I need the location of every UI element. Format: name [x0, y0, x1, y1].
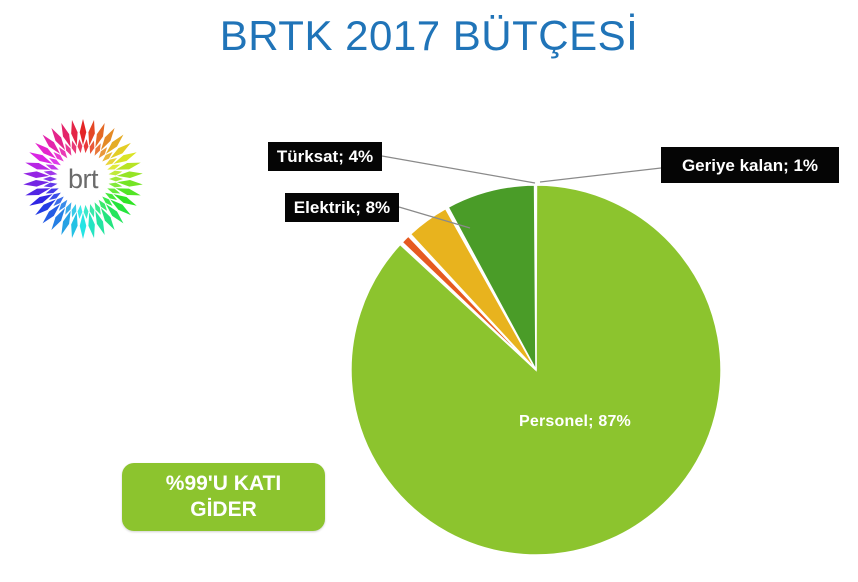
slice-label-personel: Personel; 87% — [519, 413, 631, 431]
page-title: BRTK 2017 BÜTÇESİ — [0, 12, 858, 60]
budget-pie-chart — [340, 160, 750, 570]
brt-logo-wordmark: brt — [22, 118, 144, 240]
callout-label-turksat: Türksat; 4% — [268, 142, 382, 171]
note-box-kati-gider: %99'U KATIGİDER — [122, 463, 325, 531]
callout-label-geriye-kalan: Geriye kalan; 1% — [661, 147, 839, 183]
note-box-text: %99'U KATIGİDER — [166, 471, 281, 522]
pie-chart-svg — [340, 160, 750, 570]
slide-canvas: BRTK 2017 BÜTÇESİ brt Türksat; 4% Elektr… — [0, 0, 858, 582]
brt-logo: brt — [22, 118, 144, 240]
callout-label-elektrik: Elektrik; 8% — [285, 193, 399, 222]
